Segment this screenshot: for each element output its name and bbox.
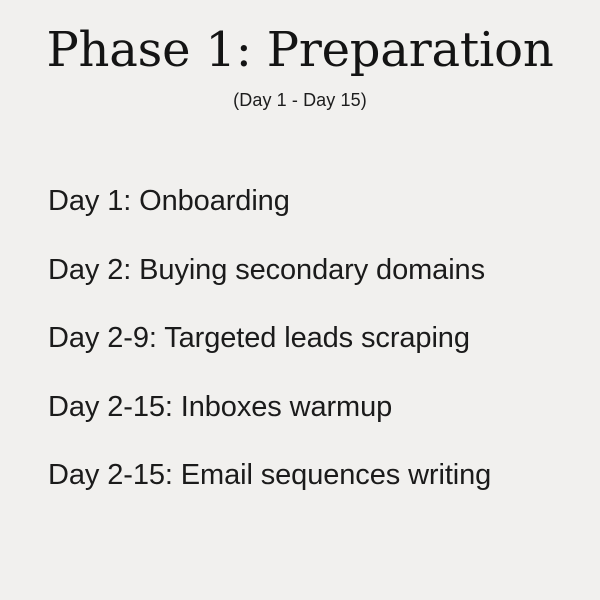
list-item: Day 2-15: Email sequences writing xyxy=(48,459,568,528)
page-subtitle: (Day 1 - Day 15) xyxy=(0,90,600,112)
list-item: Day 2-9: Targeted leads scraping xyxy=(48,322,568,391)
list-item-label: Day 2-9: Targeted leads scraping xyxy=(48,322,470,354)
task-list: Day 1: Onboarding Day 2: Buying secondar… xyxy=(48,185,568,528)
list-item-label: Day 2-15: Email sequences writing xyxy=(48,459,491,491)
list-item-label: Day 1: Onboarding xyxy=(48,185,290,217)
list-item-label: Day 2: Buying secondary domains xyxy=(48,254,485,286)
list-item: Day 2: Buying secondary domains xyxy=(48,254,568,323)
page-title: Phase 1: Preparation xyxy=(0,24,600,78)
list-item: Day 1: Onboarding xyxy=(48,185,568,254)
slide-canvas: Phase 1: Preparation (Day 1 - Day 15) Da… xyxy=(0,0,600,600)
list-item-label: Day 2-15: Inboxes warmup xyxy=(48,391,392,423)
slide-header: Phase 1: Preparation (Day 1 - Day 15) xyxy=(0,24,600,111)
list-item: Day 2-15: Inboxes warmup xyxy=(48,391,568,460)
